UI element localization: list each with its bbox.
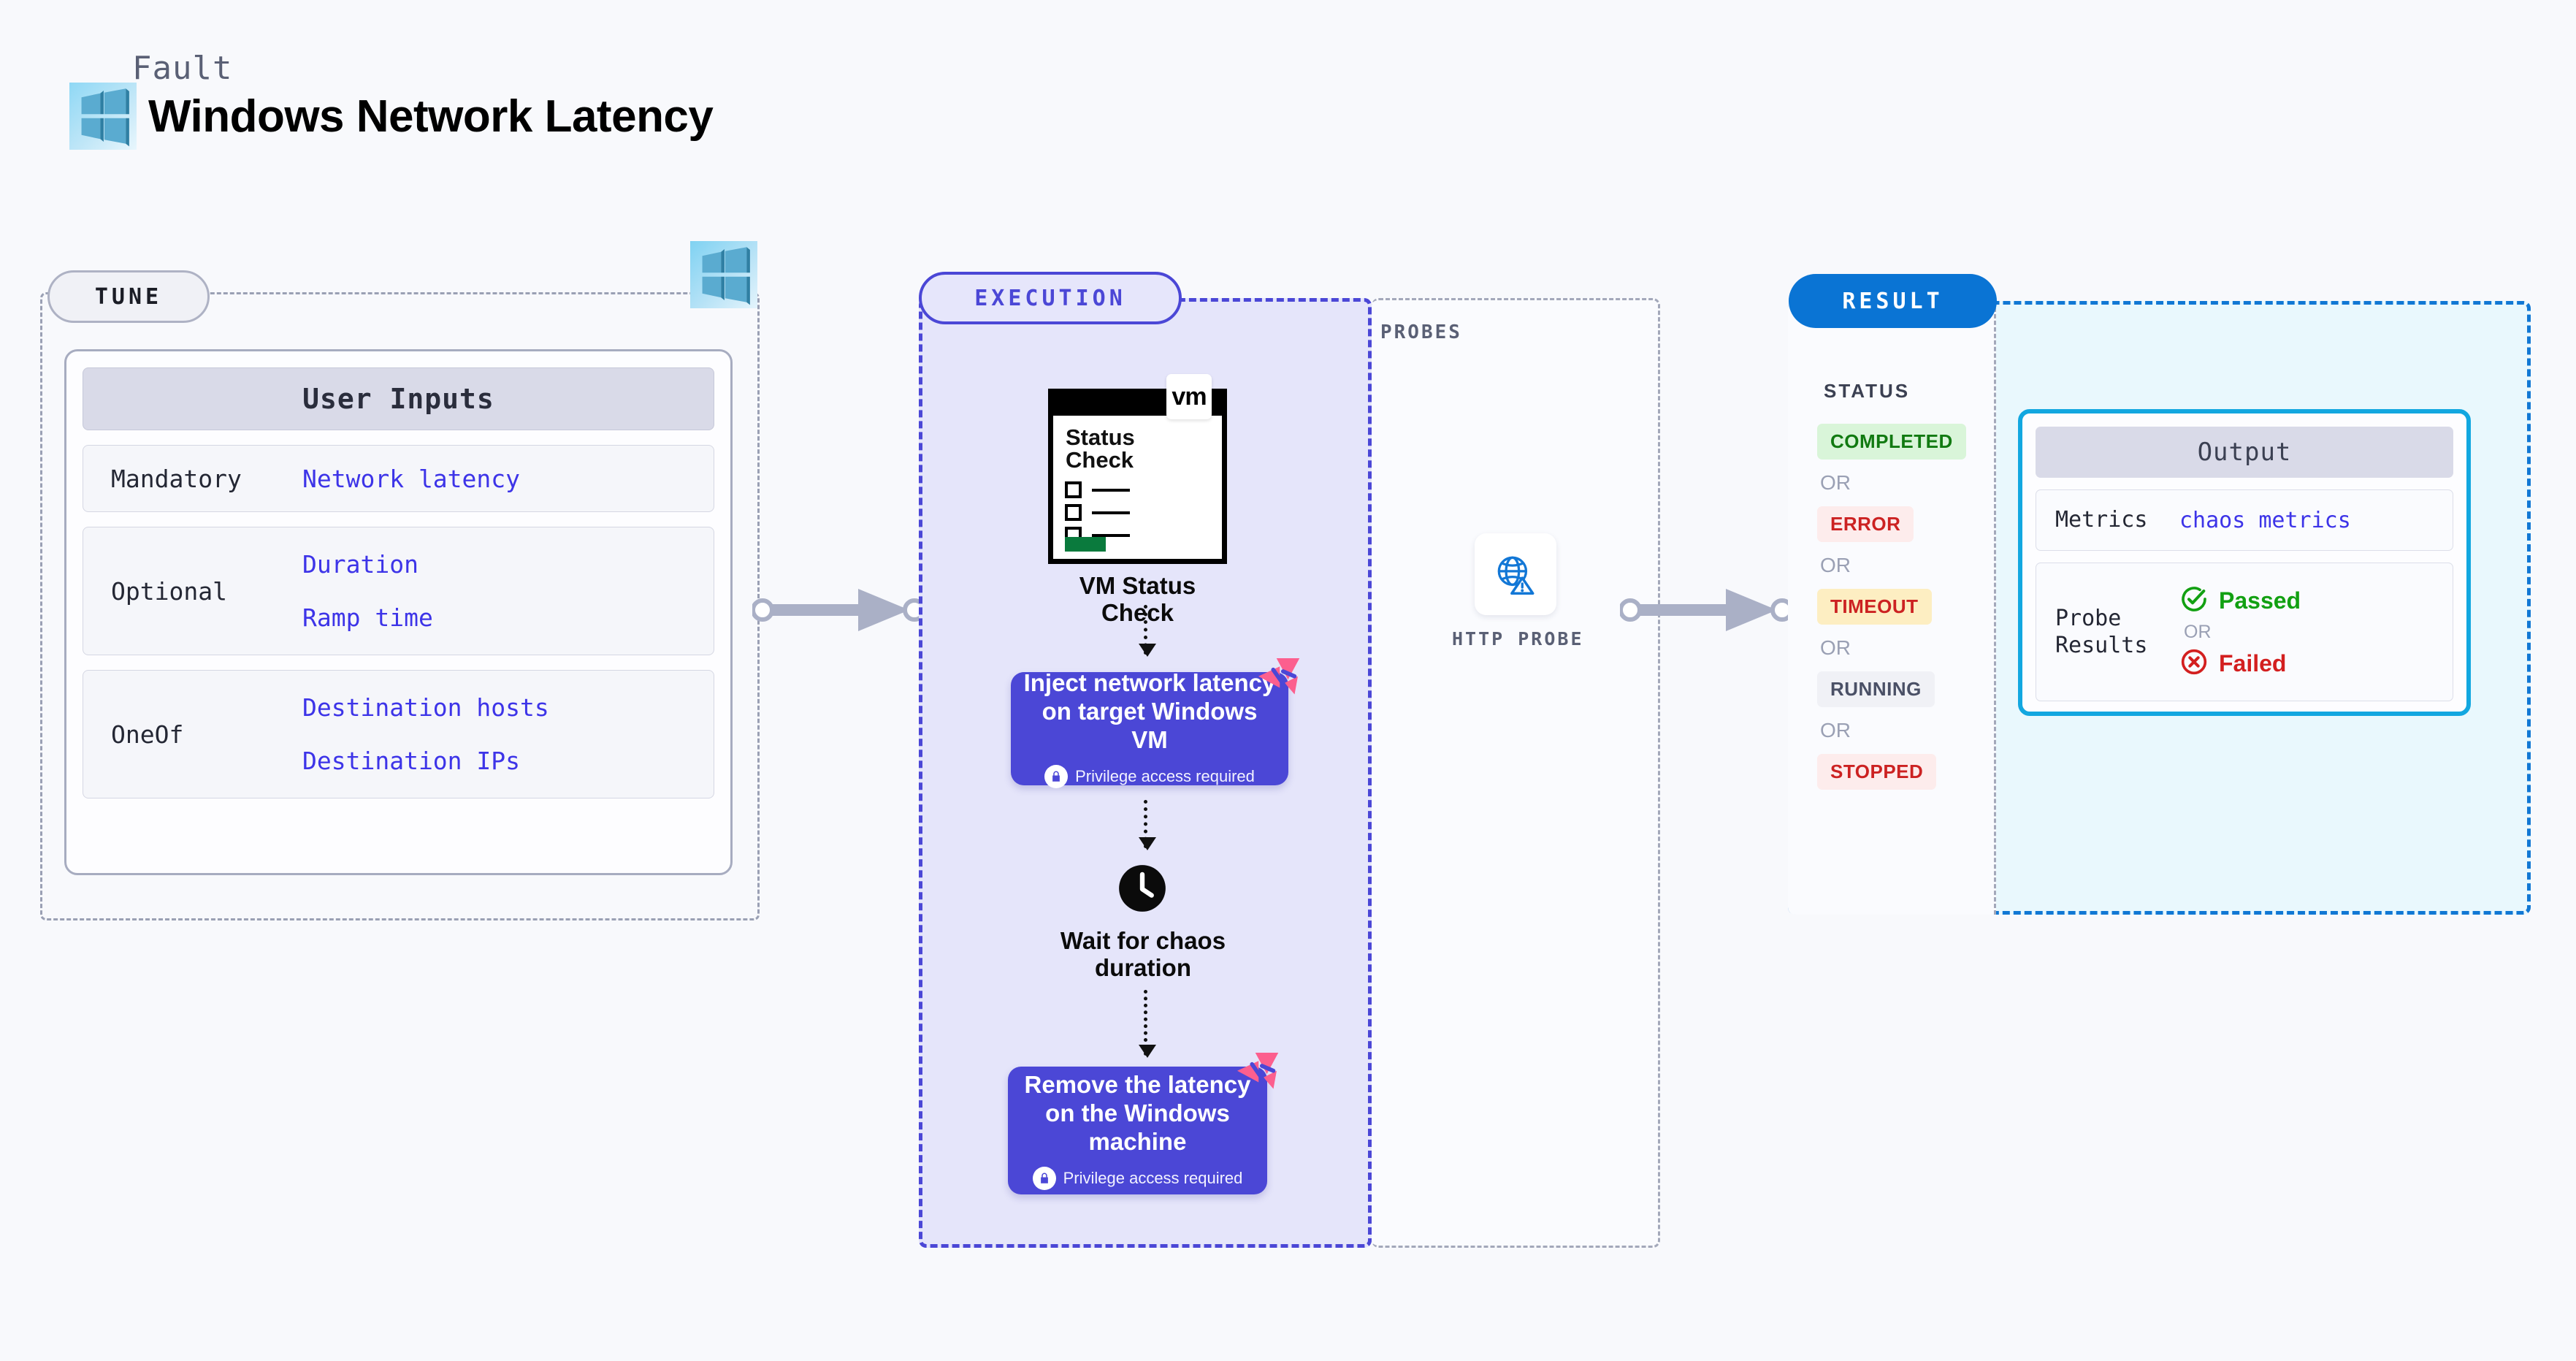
output-key: Probe Results xyxy=(2055,605,2179,660)
input-key: Mandatory xyxy=(111,465,302,493)
status-check-doc-title: Status Check xyxy=(1066,426,1175,471)
execution-section-pill: EXECUTION xyxy=(919,272,1182,324)
http-probe-node[interactable]: HTTP PROBE xyxy=(1461,533,1570,649)
flow-arrow-1 xyxy=(1144,605,1147,655)
vmware-badge-icon: vm xyxy=(1166,374,1212,419)
input-row-optional: Optional Duration Ramp time xyxy=(83,527,714,655)
status-bar-indicator xyxy=(1065,537,1106,552)
flow-arrow-3 xyxy=(1144,990,1147,1056)
remove-latency-title: Remove the latency on the Windows machin… xyxy=(1008,1071,1267,1156)
diagram-canvas: Fault xyxy=(0,0,2576,1361)
windows-target-logo-icon xyxy=(690,241,757,308)
input-value[interactable]: Network latency xyxy=(302,465,520,493)
fault-kind-label: Fault xyxy=(132,50,713,87)
passed-label: Passed xyxy=(2219,587,2301,614)
or-separator: OR xyxy=(1820,554,2000,577)
page-header: Fault xyxy=(69,50,713,150)
lock-icon xyxy=(1033,1167,1056,1190)
or-separator: OR xyxy=(1820,471,2000,495)
privilege-notice: Privilege access required xyxy=(1033,1167,1243,1190)
globe-warning-icon xyxy=(1475,533,1556,615)
output-row-probe-results: Probe Results Passed OR xyxy=(2036,563,2453,701)
tune-section-pill: TUNE xyxy=(47,270,210,323)
check-circle-icon xyxy=(2179,584,2209,617)
litmus-flag-icon xyxy=(1252,652,1304,704)
user-inputs-title: User Inputs xyxy=(83,367,714,430)
probe-result-passed: Passed xyxy=(2179,584,2301,617)
wait-for-chaos-caption: Wait for chaos duration xyxy=(971,928,1315,982)
wait-clock-icon xyxy=(1117,864,1167,913)
status-badge: ERROR xyxy=(1817,506,1914,542)
input-row-mandatory: Mandatory Network latency xyxy=(83,445,714,512)
inject-latency-title: Inject network latency on target Windows… xyxy=(1011,669,1288,755)
privilege-text: Privilege access required xyxy=(1063,1169,1243,1188)
status-badge: COMPLETED xyxy=(1817,424,1966,460)
or-separator: OR xyxy=(2184,622,2301,643)
remove-latency-node[interactable]: Remove the latency on the Windows machin… xyxy=(1008,1067,1267,1194)
probes-section-label: PROBES xyxy=(1380,321,1462,343)
status-badge: TIMEOUT xyxy=(1817,589,1932,625)
input-value[interactable]: Destination IPs xyxy=(302,747,549,775)
input-key: Optional xyxy=(111,577,302,606)
flow-arrow-2 xyxy=(1144,800,1147,848)
output-key: Metrics xyxy=(2055,506,2179,534)
status-badge-list: COMPLETED OR ERROR OR TIMEOUT OR RUNNING… xyxy=(1817,424,2000,790)
litmus-flag-icon xyxy=(1231,1046,1283,1099)
connector-execution-to-result xyxy=(1620,584,1803,636)
status-heading: STATUS xyxy=(1824,380,1910,403)
input-row-oneof: OneOf Destination hosts Destination IPs xyxy=(83,670,714,798)
input-value[interactable]: Destination hosts xyxy=(302,693,549,722)
input-value[interactable]: Ramp time xyxy=(302,603,433,632)
output-title: Output xyxy=(2036,427,2453,478)
privilege-notice: Privilege access required xyxy=(1044,765,1255,788)
connector-tune-to-execution xyxy=(752,584,935,636)
user-inputs-card: User Inputs Mandatory Network latency Op… xyxy=(64,349,733,875)
inject-latency-node[interactable]: Inject network latency on target Windows… xyxy=(1011,672,1288,785)
input-value[interactable]: Duration xyxy=(302,550,433,579)
failed-label: Failed xyxy=(2219,650,2286,677)
windows-logo-icon xyxy=(69,83,137,150)
probe-result-failed: Failed xyxy=(2179,647,2301,680)
or-separator: OR xyxy=(1820,719,2000,742)
status-badge: RUNNING xyxy=(1817,671,1935,707)
output-row-metrics: Metrics chaos metrics xyxy=(2036,489,2453,551)
privilege-text: Privilege access required xyxy=(1075,767,1255,786)
vm-status-check-caption: VM Status Check xyxy=(1048,573,1227,627)
result-section-pill: RESULT xyxy=(1789,274,1997,328)
probes-panel xyxy=(1372,298,1660,1248)
vm-status-check-node[interactable]: Status Check vm VM Status Check xyxy=(1048,389,1227,564)
x-circle-icon xyxy=(2179,647,2209,680)
output-metrics-value[interactable]: chaos metrics xyxy=(2179,508,2351,533)
or-separator: OR xyxy=(1820,636,2000,660)
page-title: Windows Network Latency xyxy=(148,91,713,142)
http-probe-label: HTTP PROBE xyxy=(1452,628,1570,649)
lock-icon xyxy=(1044,765,1068,788)
output-card: Output Metrics chaos metrics Probe Resul… xyxy=(2018,409,2471,716)
input-key: OneOf xyxy=(111,720,302,749)
status-badge: STOPPED xyxy=(1817,754,1936,790)
